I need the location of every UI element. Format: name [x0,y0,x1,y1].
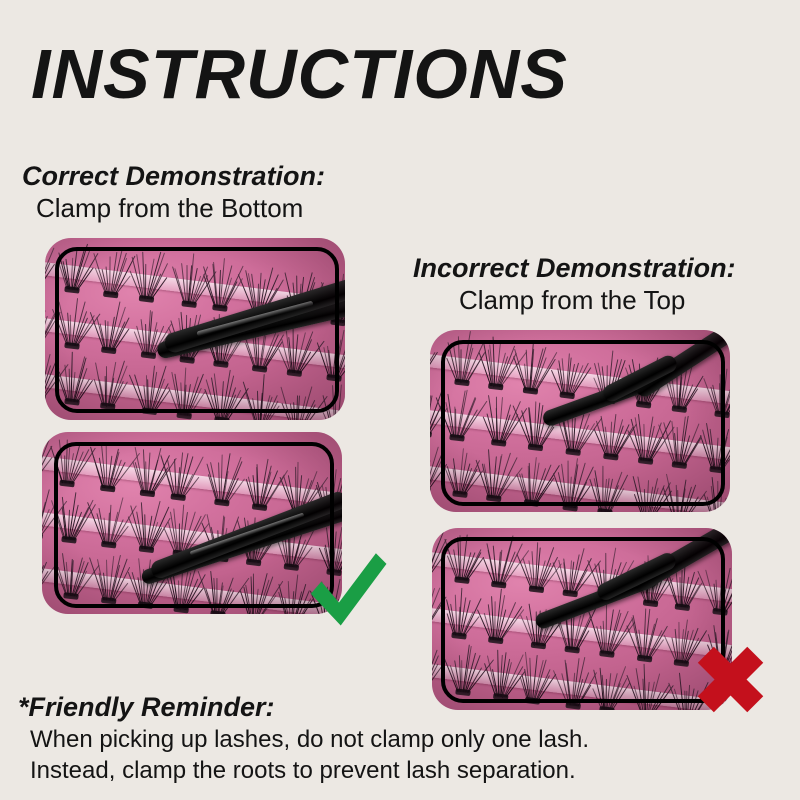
lash-hair [45,353,51,397]
lash-hair [342,412,345,420]
lash-hair [610,360,626,401]
lash-hair [651,685,674,710]
lash-hair [594,363,605,400]
lash-hair [570,458,579,507]
lash-hair [563,558,569,593]
lash-hair [539,418,558,449]
lash-hair [111,381,124,407]
lash-cluster-base [171,493,187,501]
lash-hair [293,327,295,373]
lash-cluster-base [528,585,544,593]
lash-hair [534,464,552,504]
lash-hair [146,259,155,299]
lash-hair [589,612,604,654]
lash-hair [260,374,265,420]
lash-hair [462,535,469,581]
lash-hair [67,313,71,346]
lash-hair [316,482,327,516]
lash-hair [719,568,725,612]
lash-hair [301,277,316,319]
lash-hair [712,385,720,414]
lash-cluster-base [671,405,687,413]
lash-hair [648,423,663,462]
lash-hair [529,603,537,645]
lash-hair [259,459,269,507]
lash-hair [42,509,50,536]
lash-hair [447,555,458,580]
lash-hair [294,335,299,373]
lash-hair [71,449,90,485]
lash-hair [498,467,523,499]
lash-strip [45,260,345,317]
lash-hair [601,674,605,709]
lash-hair [186,374,203,416]
lash-hair [149,322,158,356]
lash-hair [607,673,618,710]
lash-hair [298,396,307,420]
lash-hair [291,591,295,614]
lash-hair [679,479,687,512]
lash-hair [543,618,564,647]
lash-hair [212,264,217,308]
lash-hair [147,452,151,493]
lash-hair [668,683,683,710]
lash-hair [564,610,570,649]
lash-cluster-base [137,601,153,609]
lash-hair [625,367,640,404]
lash-hair [461,660,463,692]
lash-hair [338,274,345,323]
lash-hair [648,673,660,710]
lash-hair [286,331,292,373]
lash-hair [676,360,678,409]
lash-hair [343,302,345,323]
lash-hair [265,405,280,420]
lash-hair [241,325,257,368]
lash-hair [323,347,331,377]
lash-hair [299,340,325,374]
lash-hair [62,497,68,540]
lash-hair [497,551,501,584]
lash-hair [496,407,499,442]
lash-hair [536,612,538,646]
lash-hair [151,517,171,550]
lash-hair [720,497,728,512]
lash-hair [128,516,143,549]
lash-hair [563,562,568,593]
lash-hair [654,570,673,604]
lash-hair [488,350,494,387]
lash-cluster-base [523,387,539,395]
lash-hair [430,396,433,434]
lash-hair [650,485,665,512]
lash-hair [538,612,545,646]
lash-hair [256,464,259,507]
lash-hair [289,337,294,373]
lash-hair [275,533,287,567]
lash-hair [100,323,107,350]
reminder-line-2: Instead, clamp the roots to prevent lash… [18,755,589,786]
lash-hair [600,625,605,653]
lash-hair [462,401,488,439]
lash-hair [720,374,722,414]
lash-hair [190,331,206,361]
lash-hair [208,341,218,364]
lash-hair [221,588,233,614]
lash-hair [224,534,240,559]
lash-hair [174,459,177,497]
lash-hair [68,453,75,484]
lash-hair [113,567,131,601]
lash-hair [430,351,438,377]
lash-hair [639,363,643,404]
lash-hair [575,560,602,595]
lash-hair [572,415,574,452]
lash-hair [717,481,719,512]
lash-hair [436,397,453,438]
lash-hair [322,412,333,420]
lash-hair [251,323,257,368]
lash-cluster-base [64,342,80,350]
lash-hair [649,487,659,512]
lash-hair [465,549,482,581]
lash-hair [72,448,97,485]
lash-hair [514,349,527,391]
lash-hair [495,342,501,387]
lash-cluster-base [250,309,266,317]
lash-hair [185,574,206,610]
lash-hair [568,364,576,395]
lash-hair [677,490,679,512]
lash-hair [651,427,676,462]
lash-hair [111,565,121,601]
lash-hair [337,285,340,322]
lash-hair [720,568,731,612]
lash-hair [147,501,161,550]
lash-hair [610,488,625,512]
lash-hair [337,385,343,420]
lash-hair [137,577,143,605]
lash-hair [219,516,224,559]
lash-tray-photo [430,330,730,512]
lash-hair [72,248,85,290]
lash-hair [171,372,181,415]
lash-hair [148,311,153,355]
lash-hair [280,386,294,420]
lash-hair [148,580,160,606]
lash-cluster-base [709,466,725,474]
lash-hair [73,499,94,540]
lash-hair [279,584,290,614]
lash-hair [257,390,260,420]
lash-hair [255,524,268,563]
lash-hair [575,413,591,452]
lash-hair [466,352,485,384]
lash-hair [154,389,171,412]
lash-hair [296,395,299,420]
lash-hair [528,466,531,503]
lash-hair [70,505,80,541]
lash-hair [224,457,243,503]
lash-strip [432,606,732,663]
lash-hair [668,485,676,512]
lash-hair [603,621,606,654]
lash-cluster-base [603,453,619,461]
lash-hair [75,318,89,346]
lash-hair [203,266,217,307]
lash-hair [464,341,485,383]
lash-hair [453,458,459,494]
lash-hair [263,474,285,508]
lash-hair [114,255,136,295]
lash-hair [188,314,201,360]
lash-hair [460,597,467,636]
lash-hair [263,279,284,314]
lash-hair [607,548,617,598]
lash-hair [459,655,462,692]
lash-hair [254,528,262,562]
lash-cluster-base [42,532,43,540]
lash-hair [666,474,677,512]
lash-hair [70,452,85,485]
lash-hair [495,589,502,641]
lash-hair [460,463,470,495]
lash-hair [148,459,159,493]
lash-hair [167,459,176,497]
lash-hair [303,477,329,513]
lash-hair [188,391,206,417]
lash-hair [458,390,469,438]
lash-hair [217,578,218,614]
lash-hair [459,397,477,439]
lash-hair [430,464,448,491]
lash-hair [663,487,675,512]
lash-hair [214,373,221,420]
lash-hair [609,612,622,654]
lash-hair [161,454,175,497]
lash-cluster-base [454,378,470,386]
lash-hair [153,383,169,412]
lash-hair [210,571,216,614]
lash-hair [685,578,700,608]
lash-hair [683,496,699,512]
lash-cluster-base [214,499,230,507]
lash-hair [45,248,55,286]
lash-hair [183,568,197,610]
lash-hair [446,357,458,382]
lash-hair [302,487,318,513]
lash-hair [590,479,601,512]
lash-hair [463,644,471,692]
lash-hair [76,379,91,403]
lash-hair [704,378,719,414]
lash-hair [483,416,495,442]
lash-cluster-base [430,430,432,438]
lash-hair [430,447,439,491]
lash-hair [608,486,620,512]
lash-hair [149,506,170,550]
lash-hair [132,461,143,493]
lash-hair [611,420,623,457]
lash-hair [487,550,495,584]
lash-hair [464,471,483,495]
lash-hair [681,570,683,607]
lash-hair [253,573,255,614]
lash-hair [153,333,170,356]
lash-hair [300,399,316,420]
lash-hair [109,361,125,407]
lash-hair [184,384,191,416]
lash-hair [334,477,342,516]
lash-hair [180,559,184,609]
lash-strip [42,566,342,614]
lash-hair [109,512,118,545]
lash-hair [112,506,137,546]
lash-hair [134,375,146,411]
lash-hair [674,689,684,710]
lash-hair [181,474,194,498]
lash-hair [720,435,730,470]
lash-hair [192,274,208,305]
lash-hair [498,550,502,585]
lash-hair [594,478,602,512]
lash-hair [684,438,702,466]
incorrect-subheading-label: Clamp from the Top [413,284,736,316]
lash-hair [303,283,325,319]
lash-hair [687,684,691,710]
lash-hair [675,628,680,662]
lash-hair [528,407,533,447]
lash-hair [463,469,477,495]
lash-hair [482,557,494,584]
lash-hair [611,576,624,599]
lash-hair [317,342,330,377]
lash-hair [627,625,641,658]
lash-hair [719,490,723,512]
lash-hair [642,370,645,404]
lash-hair [501,415,512,443]
lash-hair [513,406,532,448]
lash-hair [191,330,212,361]
lash-hair [112,322,127,351]
cross-mark-icon: ✖ [692,636,769,728]
lash-hair [447,342,458,382]
lash-hair [683,576,690,607]
lash-hair [534,401,537,447]
lash-hair [680,489,686,512]
lash-hair [189,331,205,361]
lash-hair [487,413,496,442]
lash-hair [243,586,251,614]
lash-hair [187,265,192,304]
lash-hair [110,301,122,351]
lash-hair [599,563,606,598]
lash-hair [462,460,480,495]
lash-cluster-base [63,592,79,600]
lash-hair [450,665,460,692]
lash-hair [150,372,158,411]
lash-cluster-base [636,401,652,409]
lash-cluster-base [600,594,616,602]
lash-hair [136,326,145,355]
lash-hair [113,257,127,295]
lash-cluster-base [141,407,157,415]
lash-hair [143,569,145,605]
lash-hair [57,566,67,595]
lash-cluster-base [599,706,615,710]
lash-hair [537,610,541,645]
lash-hair [710,429,716,470]
lash-hair [288,581,291,614]
lash-hair [293,283,298,318]
lash-hair [226,332,247,365]
lash-hair [77,314,101,347]
lash-hair [239,533,249,562]
lash-cluster-base [245,559,261,567]
lash-hair [610,678,627,710]
lash-hair [479,352,492,386]
lash-hair [609,421,612,456]
lash-hair [609,359,622,401]
lash-hair [299,386,313,420]
lash-hair [452,468,457,494]
lash-hair [149,572,169,606]
lash-hair [560,409,570,452]
lash-hair [62,261,69,289]
correct-heading-label: Correct Demonstration: [22,160,325,192]
lash-hair [240,590,251,614]
lash-hair [325,487,330,516]
lash-cluster-base [210,610,226,614]
lash-cluster-row [45,282,345,328]
lash-hair [458,537,462,580]
tweezer-tool [155,286,345,366]
lash-hair [145,559,151,605]
lash-hair [285,272,297,317]
lash-hair [208,332,218,363]
lash-hair [458,607,461,636]
lash-cluster-base [451,632,467,640]
lash-hair [110,497,124,545]
lash-hair [430,403,443,434]
photo-panel-correct-1 [45,238,345,420]
lash-hair [105,266,109,294]
lash-hair [255,573,268,614]
lash-hair [261,332,276,369]
lash-hair [488,450,493,499]
lash-hair [299,478,310,512]
lash-cluster-base [141,351,157,359]
lash-hair [323,395,334,420]
lash-hair [644,489,647,512]
lash-hair [183,477,200,498]
lash-hair [224,328,239,364]
lash-hair [614,427,633,458]
lash-cluster-base [449,434,465,442]
lash-hair [174,508,180,553]
lash-hair [106,560,109,601]
lash-hair [143,252,146,299]
lash-hair [296,331,314,374]
lash-hair [148,253,165,300]
lash-hair [185,315,187,360]
photo-panel-correct-2 [42,432,342,614]
lash-hair [42,457,53,480]
lash-hair [217,530,220,558]
lash-hair [609,683,621,710]
lash-hair [45,312,61,343]
lash-cluster-base [290,508,306,516]
